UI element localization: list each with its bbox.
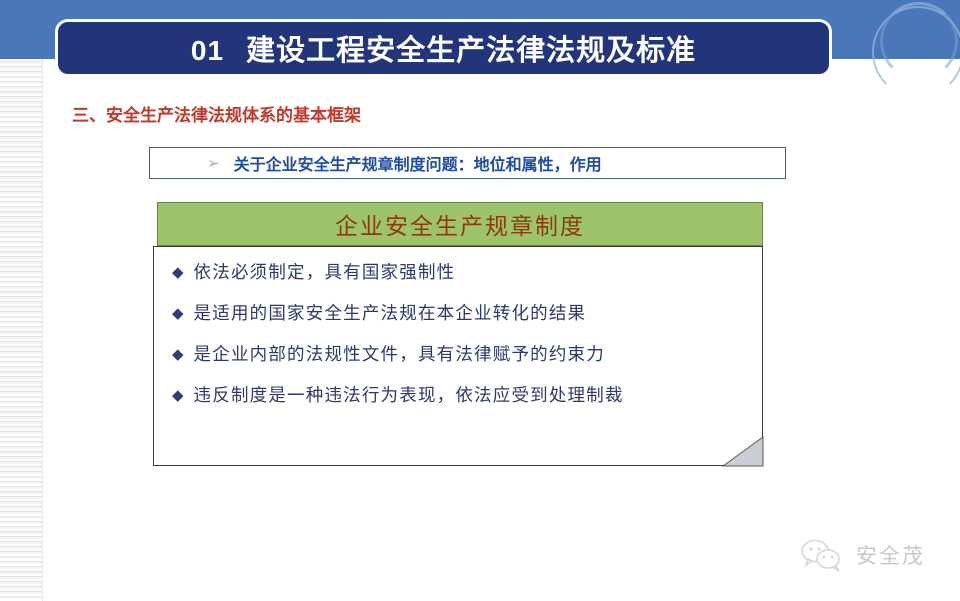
bullet-list: ◆ 依法必须制定，具有国家强制性 ◆ 是适用的国家安全生产法规在本企业转化的结果… — [153, 246, 763, 422]
wechat-icon — [800, 538, 846, 572]
slide-title-bar: 01建设工程安全生产法律法规及标准 — [55, 19, 832, 77]
list-item: ◆ 依法必须制定，具有国家强制性 — [153, 258, 763, 299]
list-item: ◆ 是适用的国家安全生产法规在本企业转化的结果 — [153, 299, 763, 340]
left-stripe-edge — [42, 59, 43, 601]
watermark: 安全茂 — [800, 538, 925, 572]
diamond-bullet-icon: ◆ — [172, 299, 184, 329]
slide-title: 01建设工程安全生产法律法规及标准 — [191, 27, 696, 69]
slide-title-label: 建设工程安全生产法律法规及标准 — [246, 33, 696, 67]
callout-box: ➢ 关于企业安全生产规章制度问题：地位和属性，作用 — [149, 147, 786, 179]
decorative-arc-icon — [880, 2, 958, 80]
panel-header-title: 企业安全生产规章制度 — [335, 207, 585, 241]
slide-title-number: 01 — [191, 35, 224, 66]
arrow-right-triangle-icon: ➢ — [207, 156, 220, 171]
section-heading: 三、安全生产法律法规体系的基本框架 — [72, 101, 361, 126]
diamond-bullet-icon: ◆ — [172, 340, 184, 370]
content-panel: 企业安全生产规章制度 ◆ 依法必须制定，具有国家强制性 ◆ 是适用的国家安全生产… — [153, 202, 763, 466]
page-fold-icon — [722, 435, 764, 467]
list-item: ◆ 违反制度是一种违法行为表现，依法应受到处理制裁 — [153, 381, 763, 422]
left-stripe-pattern — [0, 59, 43, 601]
diamond-bullet-icon: ◆ — [172, 381, 184, 411]
slide-canvas: 01建设工程安全生产法律法规及标准 三、安全生产法律法规体系的基本框架 ➢ 关于… — [0, 0, 960, 601]
list-item-label: 依法必须制定，具有国家强制性 — [194, 258, 456, 288]
list-item-label: 是适用的国家安全生产法规在本企业转化的结果 — [194, 299, 587, 329]
list-item-label: 是企业内部的法规性文件，具有法律赋予的约束力 — [194, 340, 605, 370]
watermark-label: 安全茂 — [856, 540, 925, 570]
panel-body: ◆ 依法必须制定，具有国家强制性 ◆ 是适用的国家安全生产法规在本企业转化的结果… — [153, 246, 763, 466]
panel-header: 企业安全生产规章制度 — [157, 202, 763, 246]
callout-text: 关于企业安全生产规章制度问题：地位和属性，作用 — [234, 151, 602, 175]
list-item-label: 违反制度是一种违法行为表现，依法应受到处理制裁 — [194, 381, 624, 411]
diamond-bullet-icon: ◆ — [172, 258, 184, 288]
list-item: ◆ 是企业内部的法规性文件，具有法律赋予的约束力 — [153, 340, 763, 381]
